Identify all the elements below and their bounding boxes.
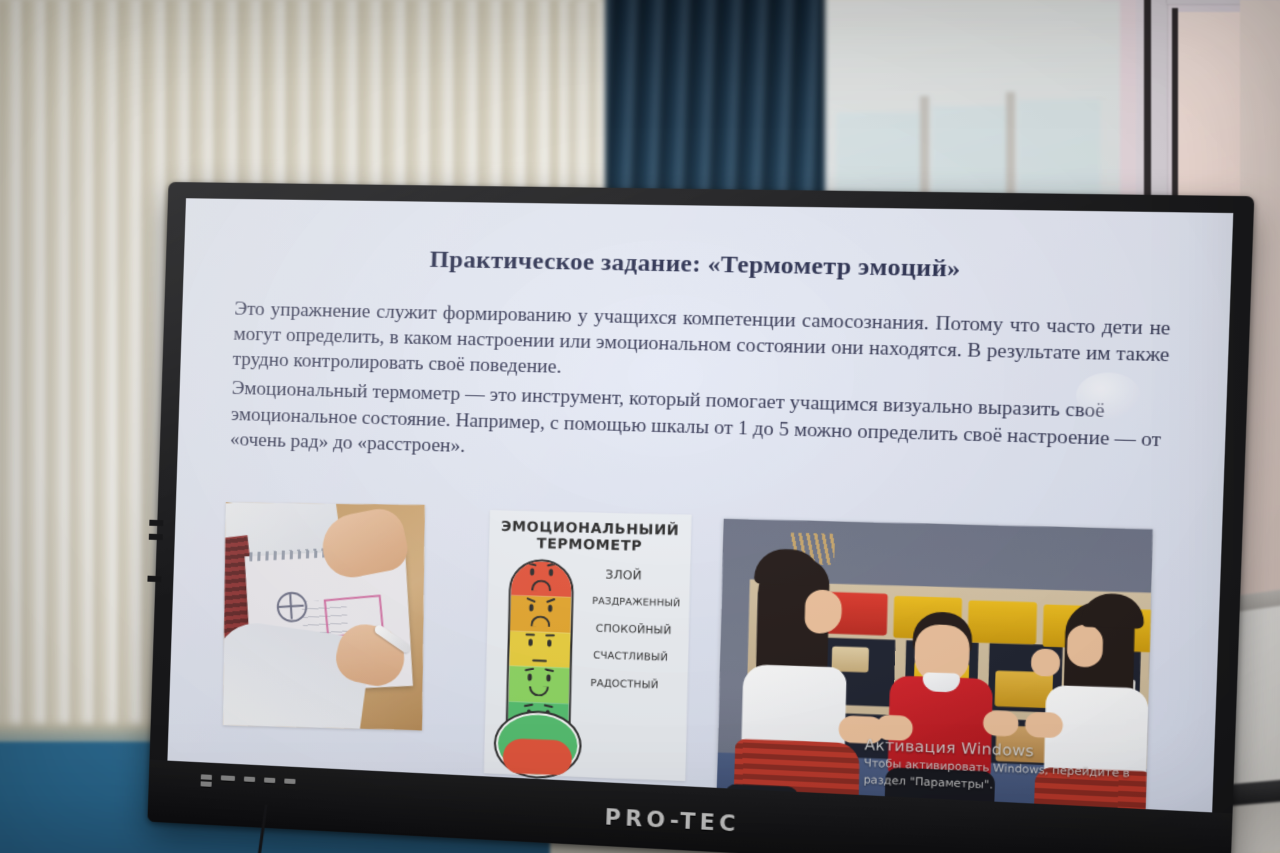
screen-glare-sheet [167,198,1233,812]
menu-button[interactable] [201,774,212,787]
up-button[interactable] [221,775,235,781]
navy-curtain [605,0,825,216]
display-monitor[interactable]: Практическое задание: «Термометр эмоций»… [147,182,1254,853]
down-button[interactable] [244,776,255,782]
monitor-screen[interactable]: Практическое задание: «Термометр эмоций»… [167,198,1233,812]
photo-scene: Практическое задание: «Термометр эмоций»… [0,0,1280,853]
source-button[interactable] [264,777,275,783]
wall-mount-bracket [149,520,163,526]
power-button[interactable] [284,779,295,785]
